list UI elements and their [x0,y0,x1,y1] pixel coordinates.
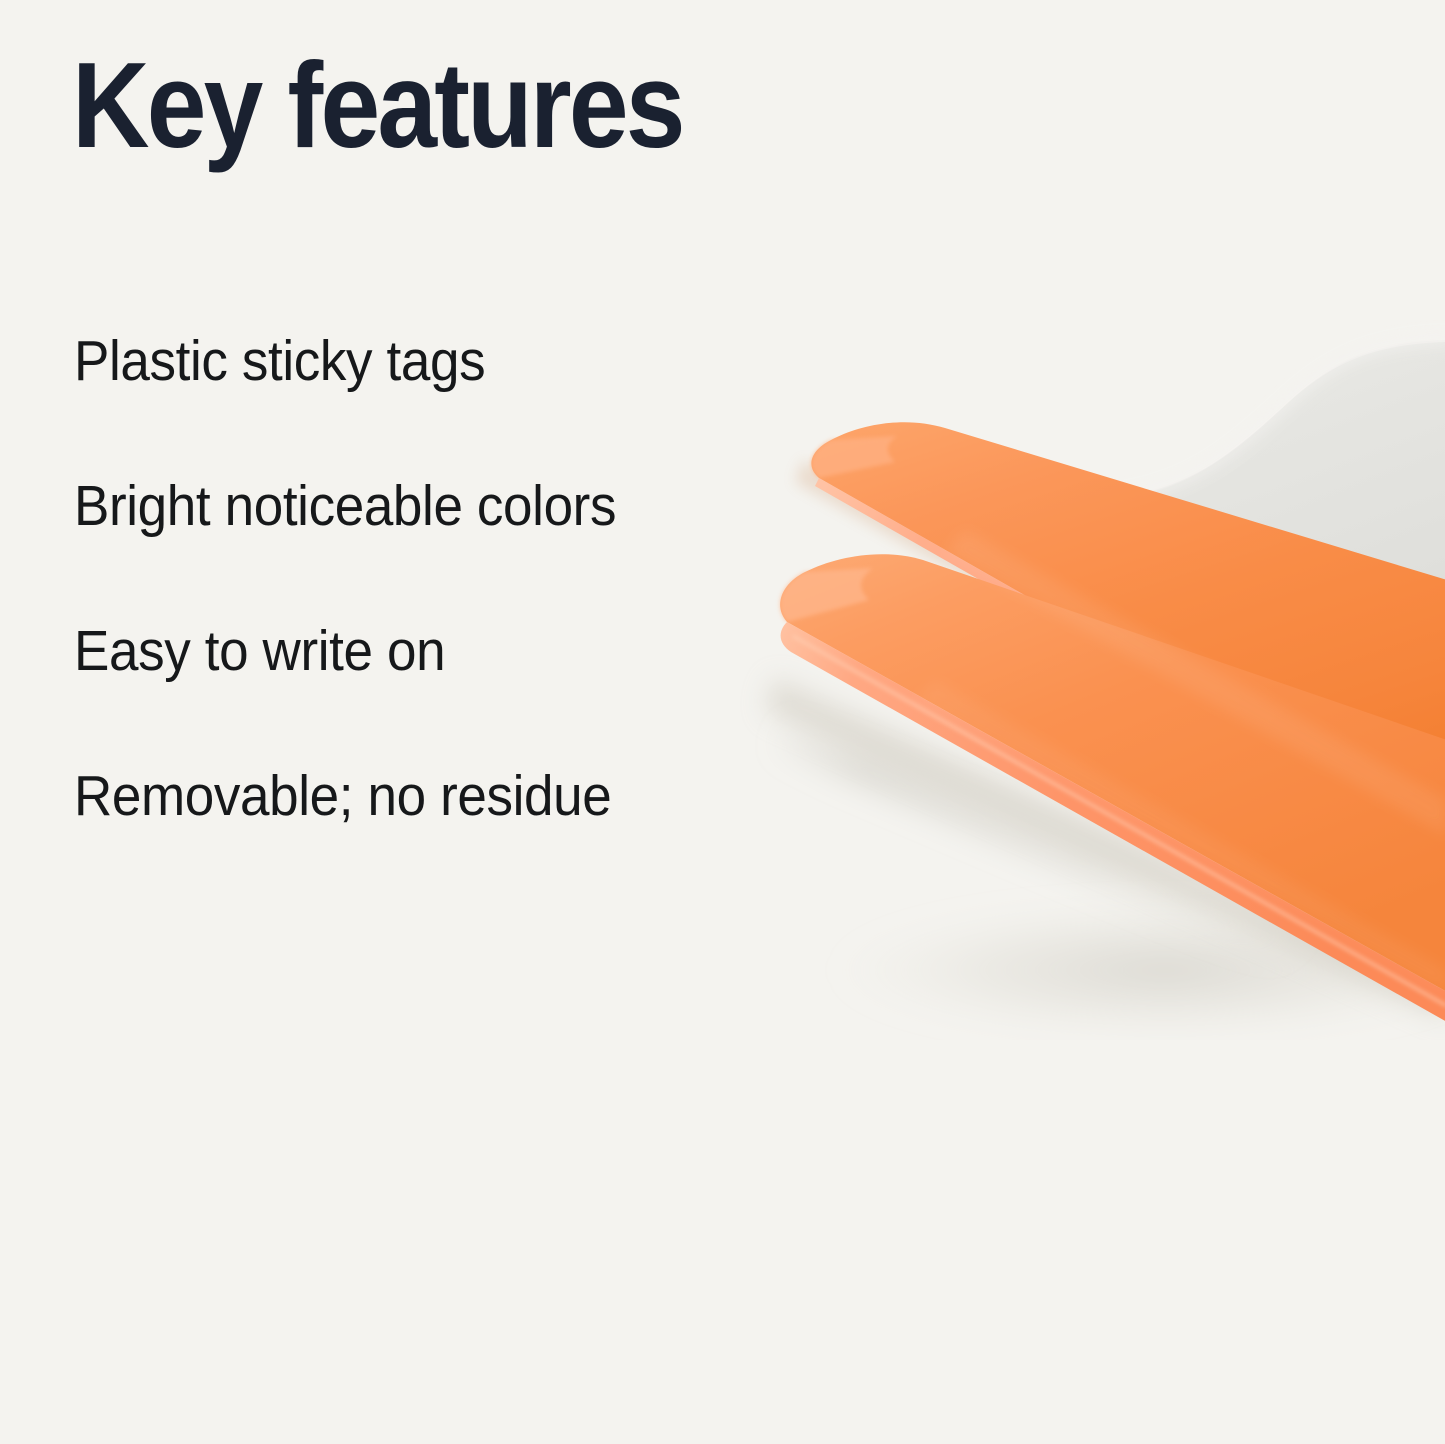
text-column: Key features Plastic sticky tags Bright … [0,0,780,900]
feature-label: Easy to write on [74,620,799,682]
list-item: Easy to write on [0,620,780,765]
feature-list: Plastic sticky tags Bright noticeable co… [0,330,780,910]
feature-label: Removable; no residue [74,765,799,827]
feature-label: Bright noticeable colors [74,475,799,537]
feature-label: Plastic sticky tags [74,330,799,392]
sticky-tags-illustration [735,280,1445,1040]
list-item: Bright noticeable colors [0,475,780,620]
page-title: Key features [72,44,683,166]
product-feature-card: Key features Plastic sticky tags Bright … [0,0,1445,1444]
product-image-sticky-tags [735,280,1445,1040]
list-item: Plastic sticky tags [0,330,780,475]
list-item: Removable; no residue [0,765,780,910]
